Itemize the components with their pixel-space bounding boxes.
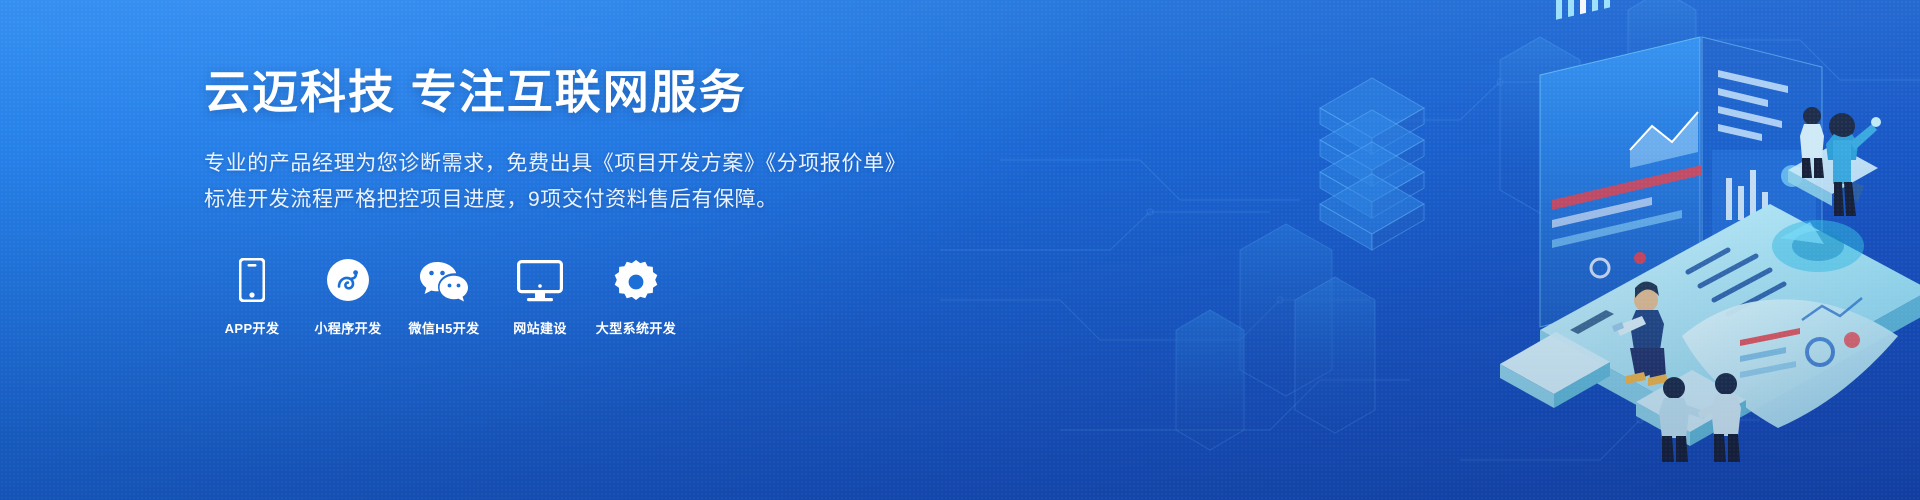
service-item-large-system[interactable]: 大型系统开发 [588,254,684,338]
mini-program-icon [300,254,396,302]
subtitle-line-2: 标准开发流程严格把控项目进度，9项交付资料售后有保障。 [204,182,904,218]
service-label: 大型系统开发 [596,321,676,336]
service-item-website[interactable]: 网站建设 [492,254,588,338]
service-label: APP开发 [225,321,280,336]
service-item-wechat-h5[interactable]: 微信H5开发 [396,254,492,338]
service-list: APP开发 小程序开发 [204,254,904,338]
subtitle-block: 专业的产品经理为您诊断需求，免费出具《项目开发方案》《分项报价单》 标准开发流程… [204,146,904,218]
illustration-isometric-tech-scene [940,0,1920,500]
service-item-app[interactable]: APP开发 [204,254,300,338]
subtitle-line-1: 专业的产品经理为您诊断需求，免费出具《项目开发方案》《分项报价单》 [204,146,904,182]
mobile-phone-icon [204,254,300,302]
service-label: 网站建设 [513,321,567,336]
service-label: 微信H5开发 [408,321,479,336]
monitor-icon [492,254,588,302]
gear-icon [588,254,684,302]
service-label: 小程序开发 [314,321,381,336]
stacked-slabs [1320,78,1424,250]
wechat-icon [396,254,492,302]
service-item-miniprogram[interactable]: 小程序开发 [300,254,396,338]
banner-content: 云迈科技 专注互联网服务 专业的产品经理为您诊断需求，免费出具《项目开发方案》《… [204,64,904,338]
hero-banner: 云迈科技 专注互联网服务 专业的产品经理为您诊断需求，免费出具《项目开发方案》《… [0,0,1920,500]
page-title: 云迈科技 专注互联网服务 [204,64,904,122]
